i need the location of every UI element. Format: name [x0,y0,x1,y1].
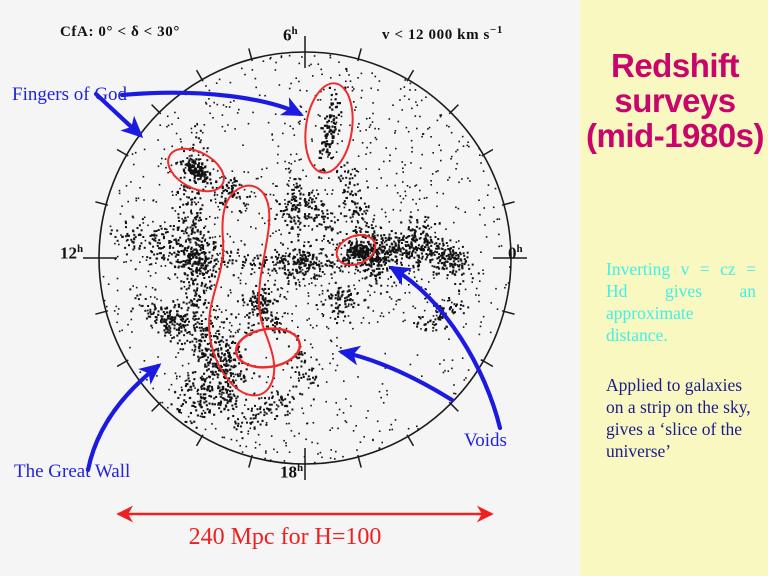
page-title: Redshift surveys (mid-1980s) [582,48,768,153]
hour-unit-h-2: h [297,462,303,474]
scale-bar-caption: 240 Mpc for H=100 [120,524,450,551]
hour-label-0h-value: 0 [508,244,517,263]
velocity-limit-text: v < 12 000 km s [382,27,490,43]
paragraph-inverting: Inverting v = cz = Hd gives an approxima… [606,258,756,346]
annotation-great-wall: The Great Wall [14,461,130,482]
paragraph-applied: Applied to galaxies on a strip on the sk… [606,374,756,462]
hour-unit-h-3: h [77,243,83,255]
survey-declination-label: CfA: 0° < δ < 30° [60,24,180,41]
hour-label-6h-value: 6 [283,26,292,45]
velocity-exponent: −1 [490,24,503,36]
annotation-fingers-of-god: Fingers of God [12,84,127,105]
arrow-to-great-wall [88,366,158,470]
hour-unit-h-4: h [517,243,523,255]
hour-unit-h: h [292,25,298,37]
hour-label-6h: 6h [283,25,298,46]
hour-label-18h: 18h [280,462,303,483]
redshift-survey-figure: CfA: 0° < δ < 30° v < 12 000 km s−1 6h 1… [0,0,580,576]
velocity-limit-label: v < 12 000 km s−1 [382,24,503,44]
hour-label-18h-value: 18 [280,463,297,482]
arrow-to-void-center [392,268,500,428]
hour-label-12h-value: 12 [60,244,77,263]
void-highlight-oval [234,325,303,372]
hour-label-12h: 12h [60,243,83,264]
annotation-voids: Voids [464,430,507,451]
hour-label-0h: 0h [508,243,523,264]
arrow-to-finger-top [122,93,300,114]
slide-root: CfA: 0° < δ < 30° v < 12 000 km s−1 6h 1… [0,0,768,576]
arrow-to-void-lower [342,352,452,400]
annotation-arrows [88,93,500,470]
